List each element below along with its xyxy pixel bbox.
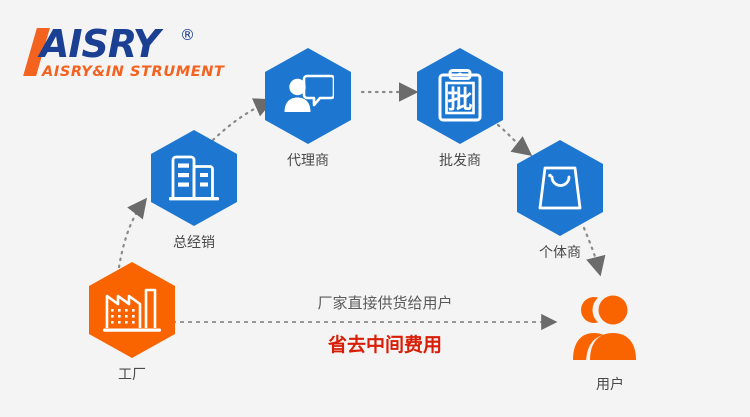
caption-direct-supply: 厂家直接供货给用户 <box>255 292 515 313</box>
node-factory-hexagon <box>89 262 175 358</box>
person-chat-icon <box>282 72 334 120</box>
node-retailer[interactable]: 个体商 <box>512 140 608 262</box>
caption-save-cost: 省去中间费用 <box>255 330 515 357</box>
aisry-logo: AISRY ® AISRY&IN STRUMENT <box>22 24 222 82</box>
node-distributor-hexagon <box>151 130 237 226</box>
node-factory[interactable]: 工厂 <box>84 262 180 384</box>
node-user-graphic <box>567 272 653 368</box>
node-agent-label: 代理商 <box>260 150 356 170</box>
factory-icon <box>103 286 161 334</box>
node-wholesaler[interactable]: 批 批发商 <box>412 48 508 170</box>
building-icon <box>167 152 221 204</box>
node-agent-hexagon <box>265 48 351 144</box>
infographic-canvas: AISRY ® AISRY&IN STRUMENT <box>0 0 750 417</box>
node-retailer-label: 个体商 <box>512 242 608 262</box>
node-wholesaler-hexagon: 批 <box>417 48 503 144</box>
clipboard-pi-icon: 批 <box>437 69 483 123</box>
node-agent[interactable]: 代理商 <box>260 48 356 170</box>
registered-trademark-icon: ® <box>180 26 195 44</box>
node-distributor-label: 总经销 <box>146 232 242 252</box>
node-user[interactable]: 用户 <box>562 272 658 394</box>
node-user-label: 用户 <box>562 374 658 394</box>
node-wholesaler-label: 批发商 <box>412 150 508 170</box>
node-retailer-hexagon <box>517 140 603 236</box>
clipboard-icon-glyph: 批 <box>447 85 472 114</box>
logo-wordmark: AISRY <box>40 24 159 64</box>
shopping-bag-icon <box>536 163 584 213</box>
logo-subtitle: AISRY&IN STRUMENT <box>42 64 224 80</box>
users-icon <box>567 286 653 368</box>
node-factory-label: 工厂 <box>84 364 180 384</box>
node-distributor[interactable]: 总经销 <box>146 130 242 252</box>
